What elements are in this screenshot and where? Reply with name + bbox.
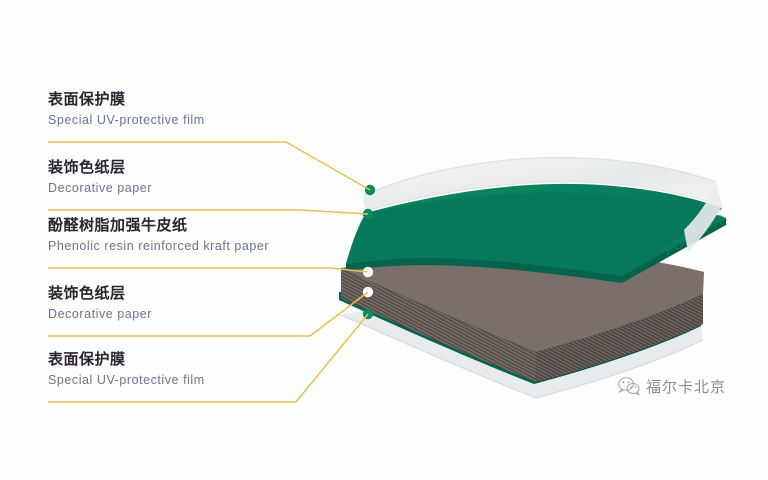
laminate-layer-diagram: FORMICA 表面保护膜 Specia: [0, 0, 768, 480]
label-kraft-core[interactable]: 酚醛树脂加强牛皮纸 Phenolic resin reinforced kraf…: [48, 216, 269, 255]
label-bottom-uv-film[interactable]: 表面保护膜 Special UV-protective film: [48, 350, 205, 389]
label-en-top-decorative-paper: Decorative paper: [48, 180, 152, 197]
label-en-bottom-decorative-paper: Decorative paper: [48, 306, 152, 323]
label-bottom-decorative-paper[interactable]: 装饰色纸层 Decorative paper: [48, 284, 152, 323]
label-top-uv-film[interactable]: 表面保护膜 Special UV-protective film: [48, 90, 205, 129]
watermark-text: 福尔卡北京: [646, 376, 726, 397]
label-cn-bottom-uv-film: 表面保护膜: [48, 350, 205, 369]
label-cn-kraft-core: 酚醛树脂加强牛皮纸: [48, 216, 269, 235]
label-cn-bottom-decorative-paper: 装饰色纸层: [48, 284, 152, 303]
label-cn-top-uv-film: 表面保护膜: [48, 90, 205, 109]
leader-top-decorative-paper: [48, 210, 368, 214]
label-top-decorative-paper[interactable]: 装饰色纸层 Decorative paper: [48, 158, 152, 197]
label-en-bottom-uv-film: Special UV-protective film: [48, 372, 205, 389]
label-en-top-uv-film: Special UV-protective film: [48, 112, 205, 129]
label-cn-top-decorative-paper: 装饰色纸层: [48, 158, 152, 177]
wechat-icon: [618, 377, 640, 396]
watermark: 福尔卡北京: [618, 376, 726, 397]
leader-kraft-core: [48, 268, 368, 272]
label-en-kraft-core: Phenolic resin reinforced kraft paper: [48, 238, 269, 255]
